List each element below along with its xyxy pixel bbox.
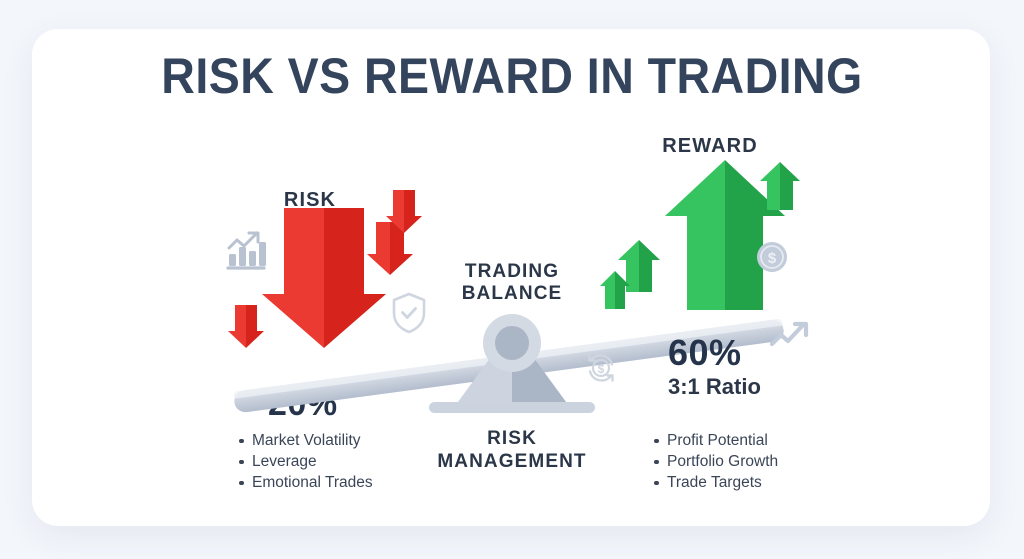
risk-factor-list: Market Volatility Leverage Emotional Tra… <box>237 430 373 493</box>
list-item: Trade Targets <box>652 472 778 493</box>
reward-small-arrow-3 <box>600 271 630 309</box>
list-item: Portfolio Growth <box>652 451 778 472</box>
reward-factor-list: Profit Potential Portfolio Growth Trade … <box>652 430 778 493</box>
svg-text:$: $ <box>768 250 777 267</box>
page-title: RISK VS REWARD IN TRADING <box>36 48 988 104</box>
list-item: Market Volatility <box>237 430 373 451</box>
list-item: Profit Potential <box>652 430 778 451</box>
fulcrum <box>421 316 603 414</box>
trading-balance-label-line1: TRADING <box>432 261 592 283</box>
svg-text:$: $ <box>598 362 605 376</box>
list-item: Leverage <box>237 451 373 472</box>
risk-management-label-line1: RISK <box>412 428 612 450</box>
risk-small-arrow-2 <box>386 190 422 234</box>
fulcrum-base <box>429 402 595 413</box>
infographic-canvas: RISK VS REWARD IN TRADING RISK <box>0 0 1024 559</box>
risk-management-label-line2: MANAGEMENT <box>412 451 612 473</box>
trading-balance-label-line2: BALANCE <box>432 283 592 305</box>
reward-percent: 60% <box>668 332 742 374</box>
pivot-hub-inner <box>495 326 529 360</box>
chart-bar-trend-icon <box>224 228 268 275</box>
reward-ratio: 3:1 Ratio <box>668 374 761 400</box>
dollar-coin-icon: $ <box>755 240 789 279</box>
reward-small-arrow-1 <box>760 162 800 210</box>
risk-small-arrow-3 <box>228 305 264 349</box>
list-item: Emotional Trades <box>237 472 373 493</box>
trending-up-icon <box>768 318 810 357</box>
currency-refresh-icon: $ <box>583 350 619 391</box>
reward-label: REWARD <box>620 135 800 158</box>
